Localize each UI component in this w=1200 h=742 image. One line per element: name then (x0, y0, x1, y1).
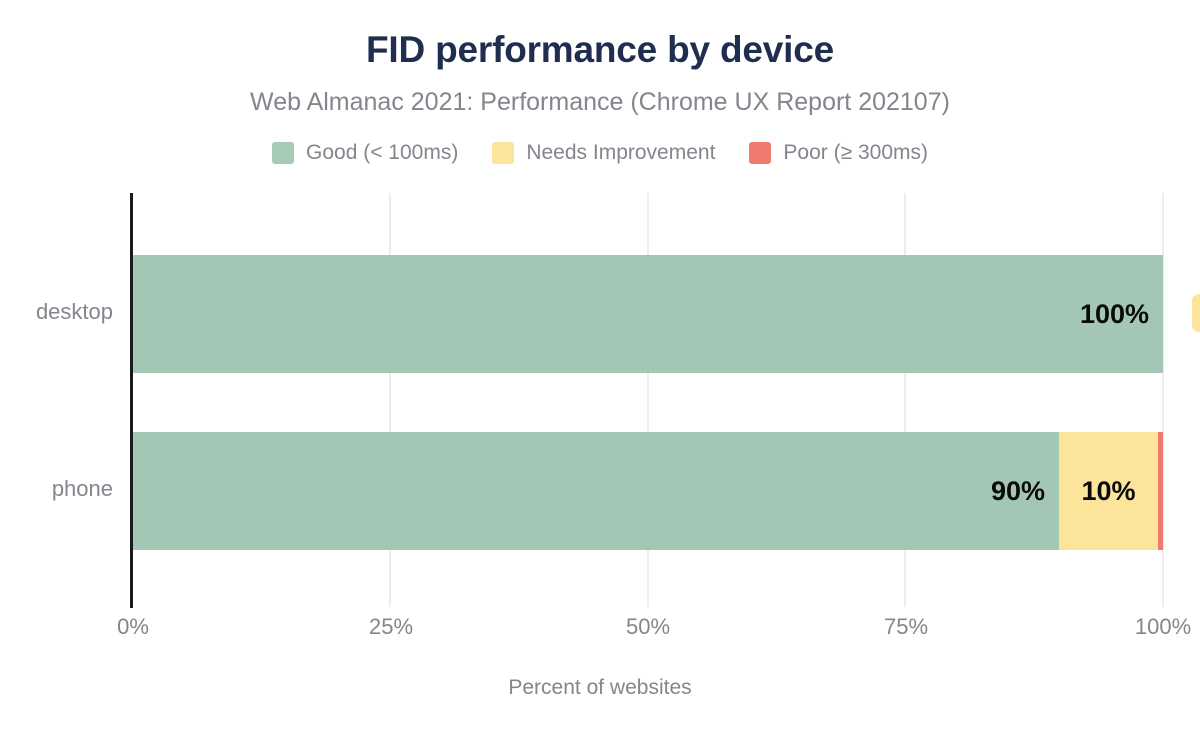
chart-subtitle: Web Almanac 2021: Performance (Chrome UX… (0, 88, 1200, 117)
bar-label-phone-needs-improvement: 10% (1059, 432, 1158, 550)
bar-label-desktop-good: 100% (133, 255, 1163, 373)
plot-area: 100% 90% 10% (133, 193, 1163, 607)
legend-label-needs-improvement: Needs Improvement (526, 141, 715, 165)
chart-legend: Good (< 100ms) Needs Improvement Poor (≥… (0, 141, 1200, 165)
legend-swatch-needs-improvement-icon (492, 142, 514, 164)
bar-segment-phone-poor[interactable] (1158, 432, 1163, 550)
x-tick-label-75: 75% (826, 614, 986, 640)
clipped-edge-marker-icon (1192, 294, 1200, 332)
bar-row-phone: 90% 10% (133, 432, 1163, 550)
y-tick-label-desktop: desktop (0, 299, 113, 325)
x-tick-label-100: 100% (1083, 614, 1200, 640)
x-tick-label-0: 0% (53, 614, 213, 640)
legend-item-needs-improvement[interactable]: Needs Improvement (492, 141, 715, 165)
chart-title: FID performance by device (0, 29, 1200, 71)
x-axis-title: Percent of websites (0, 676, 1200, 700)
legend-item-good[interactable]: Good (< 100ms) (272, 141, 458, 165)
x-tick-label-50: 50% (568, 614, 728, 640)
y-tick-label-phone: phone (0, 476, 113, 502)
x-tick-label-25: 25% (311, 614, 471, 640)
legend-label-poor: Poor (≥ 300ms) (783, 141, 928, 165)
legend-item-poor[interactable]: Poor (≥ 300ms) (749, 141, 928, 165)
legend-swatch-good-icon (272, 142, 294, 164)
bar-row-desktop: 100% (133, 255, 1163, 373)
fid-performance-chart: FID performance by device Web Almanac 20… (0, 0, 1200, 742)
bar-label-phone-good: 90% (133, 432, 1059, 550)
legend-label-good: Good (< 100ms) (306, 141, 458, 165)
legend-swatch-poor-icon (749, 142, 771, 164)
